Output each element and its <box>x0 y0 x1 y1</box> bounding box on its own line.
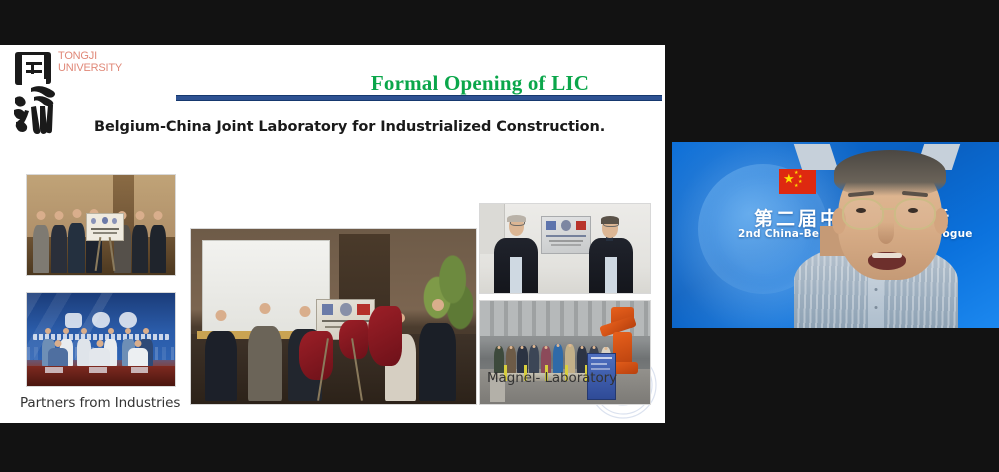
presentation-slide: TONGJI UNIVERSITY Formal Opening of LIC … <box>0 45 665 423</box>
logo-wordmark-line2: UNIVERSITY <box>58 63 122 75</box>
slide-subtitle: Belgium-China Joint Laboratory for Indus… <box>94 119 605 135</box>
speaker-hair <box>834 150 946 196</box>
plaque-unveiling-photo <box>190 228 477 405</box>
speaker-webcam-feed <box>672 142 999 328</box>
photo-content <box>480 204 650 293</box>
slide-title: Formal Opening of LIC <box>300 71 660 96</box>
group-photo-with-plaque <box>26 174 176 276</box>
eye-left <box>856 208 866 213</box>
logo-wordmark: TONGJI UNIVERSITY <box>58 51 122 74</box>
magnel-laboratory-robot-photo <box>479 300 651 405</box>
ear-right <box>934 208 948 234</box>
title-divider-rule <box>176 95 662 101</box>
caption-magnel-laboratory: Magnel- Laboratory <box>487 370 617 386</box>
photo-content <box>27 293 175 386</box>
eyeglass-bridge <box>880 208 894 210</box>
caption-partners-from-industries: Partners from Industries <box>20 395 180 411</box>
photo-content <box>480 301 650 404</box>
photo-content <box>191 229 476 404</box>
photo-content <box>27 175 175 275</box>
logo-wordmark-line1: TONGJI <box>58 51 122 63</box>
two-directors-wall-plaque-photo <box>479 203 651 294</box>
signing-ceremony-photo <box>26 292 176 387</box>
speaker-video-tile[interactable]: ★ ★ ★ ★ ★ 第二届中比经济对话 2nd China-Belgium Ec… <box>672 142 999 328</box>
nose <box>878 222 894 244</box>
tongji-calligraphy-mark <box>12 48 62 134</box>
collar-left <box>794 144 838 170</box>
wall-mounted-plaque <box>541 216 591 254</box>
mouth <box>868 252 906 270</box>
eyeglass-lens-right <box>894 198 936 230</box>
eye-right <box>908 208 918 213</box>
signing-table <box>27 366 175 386</box>
teeth <box>872 253 902 258</box>
screen-root: TONGJI UNIVERSITY Formal Opening of LIC … <box>0 0 999 472</box>
